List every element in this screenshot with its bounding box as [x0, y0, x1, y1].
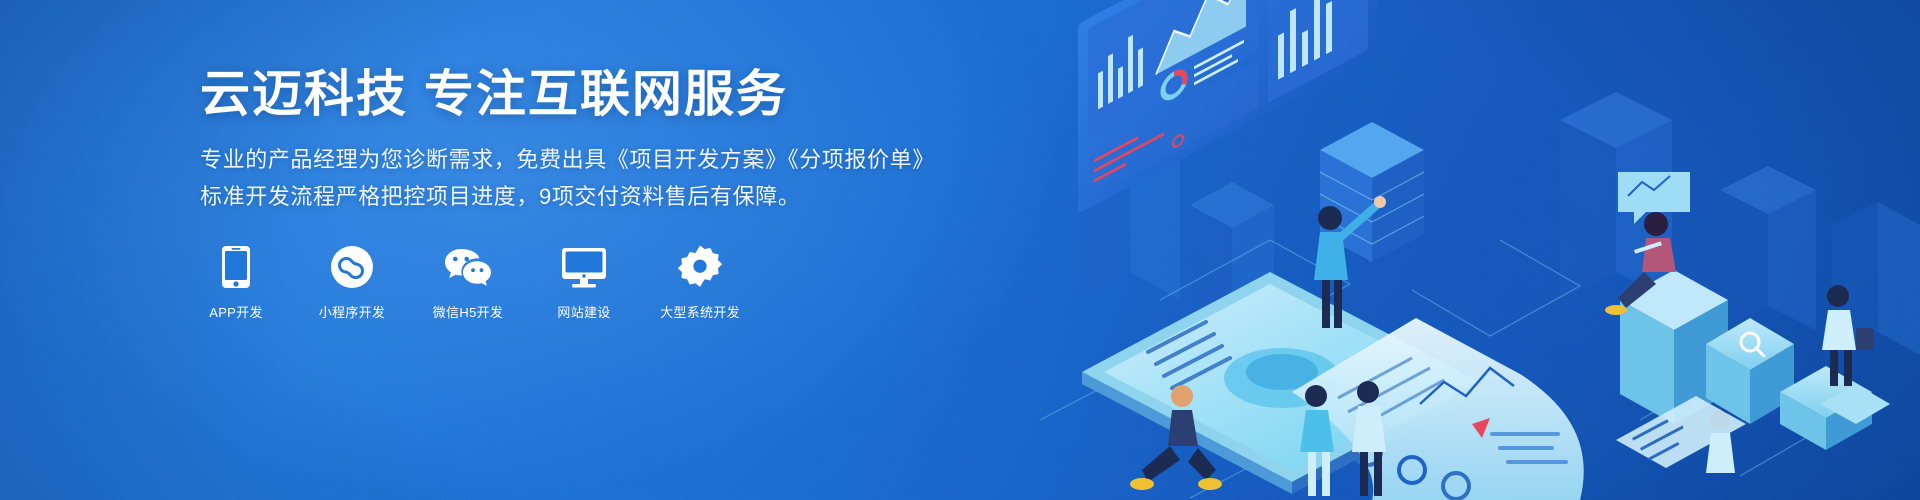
- mini-program-icon: [330, 243, 374, 289]
- service-label: APP开发: [209, 302, 263, 321]
- gear-icon: [678, 243, 722, 289]
- banner-copy: 云迈科技 专注互联网服务 专业的产品经理为您诊断需求，免费出具《项目开发方案》《…: [200, 66, 900, 321]
- service-item-mini-program[interactable]: 小程序开发: [316, 243, 388, 321]
- service-item-app[interactable]: APP开发: [200, 243, 272, 321]
- service-item-large-system[interactable]: 大型系统开发: [664, 243, 736, 321]
- service-item-wechat-h5[interactable]: 微信H5开发: [432, 243, 504, 321]
- mobile-phone-icon: [221, 243, 251, 289]
- service-label: 网站建设: [557, 302, 610, 321]
- service-label: 微信H5开发: [433, 302, 503, 321]
- page-title: 云迈科技 专注互联网服务: [200, 66, 900, 122]
- isometric-tech-dashboard-illustration: [1020, 0, 1920, 500]
- subtitle-line-2: 标准开发流程严格把控项目进度，9项交付资料售后有保障。: [200, 179, 900, 216]
- banner-subtitle: 专业的产品经理为您诊断需求，免费出具《项目开发方案》《分项报价单》 标准开发流程…: [200, 142, 900, 215]
- wechat-icon: [443, 243, 493, 289]
- subtitle-line-1: 专业的产品经理为您诊断需求，免费出具《项目开发方案》《分项报价单》: [200, 142, 900, 179]
- service-label: 小程序开发: [319, 302, 386, 321]
- promo-banner: 云迈科技 专注互联网服务 专业的产品经理为您诊断需求，免费出具《项目开发方案》《…: [0, 0, 1920, 500]
- service-item-website[interactable]: 网站建设: [548, 243, 620, 321]
- monitor-icon: [561, 243, 607, 289]
- service-list: APP开发 小程序开发: [200, 243, 900, 321]
- service-label: 大型系统开发: [660, 302, 740, 321]
